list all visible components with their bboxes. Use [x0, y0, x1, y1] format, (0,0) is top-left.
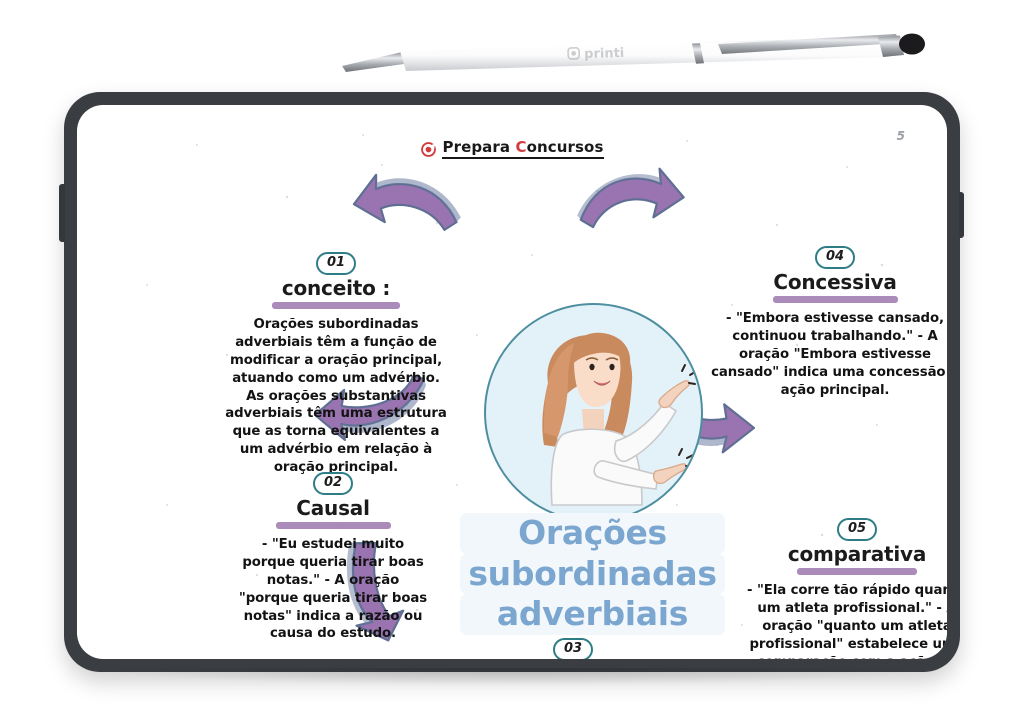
- section-04-badge: 04: [815, 246, 855, 269]
- section-02-badge: 02: [313, 472, 353, 495]
- center-title-line-2: subordinadas: [460, 554, 725, 595]
- section-02-highlight: [276, 522, 391, 529]
- stylus-pen: printi: [340, 30, 926, 88]
- power-button[interactable]: [959, 192, 964, 238]
- section-01-heading: conceito :: [223, 277, 449, 299]
- center-title-line-3: adverbiais: [460, 594, 725, 635]
- arrow-to-section-01: [351, 163, 461, 253]
- section-05-highlight: [797, 568, 917, 575]
- section-02-body: - "Eu estudei muito porque queria tirar …: [235, 536, 431, 643]
- section-05-heading: comparativa: [737, 543, 947, 565]
- section-04-heading: Concessiva: [711, 271, 947, 293]
- screenshot-root: printi: [0, 0, 1024, 710]
- section-04-body: - "Embora estivesse cansado, continuou t…: [711, 310, 947, 399]
- section-01: 01 conceito : Orações subordinadas adver…: [223, 251, 449, 477]
- brand-name-accent: C: [515, 138, 526, 156]
- section-02-heading: Causal: [235, 497, 431, 519]
- section-01-body: Orações subordinadas adverbiais têm a fu…: [223, 316, 449, 476]
- section-01-badge: 01: [316, 252, 356, 275]
- section-05: 05 comparativa - "Ela corre tão rápido q…: [737, 517, 947, 659]
- volume-button[interactable]: [59, 184, 65, 242]
- section-05-badge: 05: [837, 518, 877, 541]
- section-01-highlight: [272, 302, 400, 309]
- brand-name-part3: oncursos: [527, 138, 604, 156]
- woman-pointing-illustration: [486, 305, 698, 517]
- section-02: 02 Causal - "Eu estudei muito porque que…: [235, 471, 431, 643]
- center-title-line-1: Orações: [460, 513, 725, 554]
- center-illustration-circle: [484, 303, 703, 522]
- section-04: 04 Concessiva - "Embora estivesse cansad…: [711, 245, 947, 399]
- section-05-body: - "Ela corre tão rápido quanto um atleta…: [737, 582, 947, 659]
- arrow-to-section-04: [577, 155, 687, 247]
- tablet-device: 5 Prepara Concursos: [64, 92, 960, 672]
- brand-name-part1: Prepara: [442, 138, 510, 156]
- target-logo-icon: [420, 141, 437, 158]
- tablet-screen: 5 Prepara Concursos: [77, 105, 947, 659]
- section-04-highlight: [773, 296, 898, 303]
- center-title: Orações subordinadas adverbiais: [460, 513, 725, 635]
- svg-text:printi: printi: [584, 46, 625, 62]
- brand-header: Prepara Concursos: [77, 140, 947, 159]
- section-03-badge: 03: [553, 638, 593, 659]
